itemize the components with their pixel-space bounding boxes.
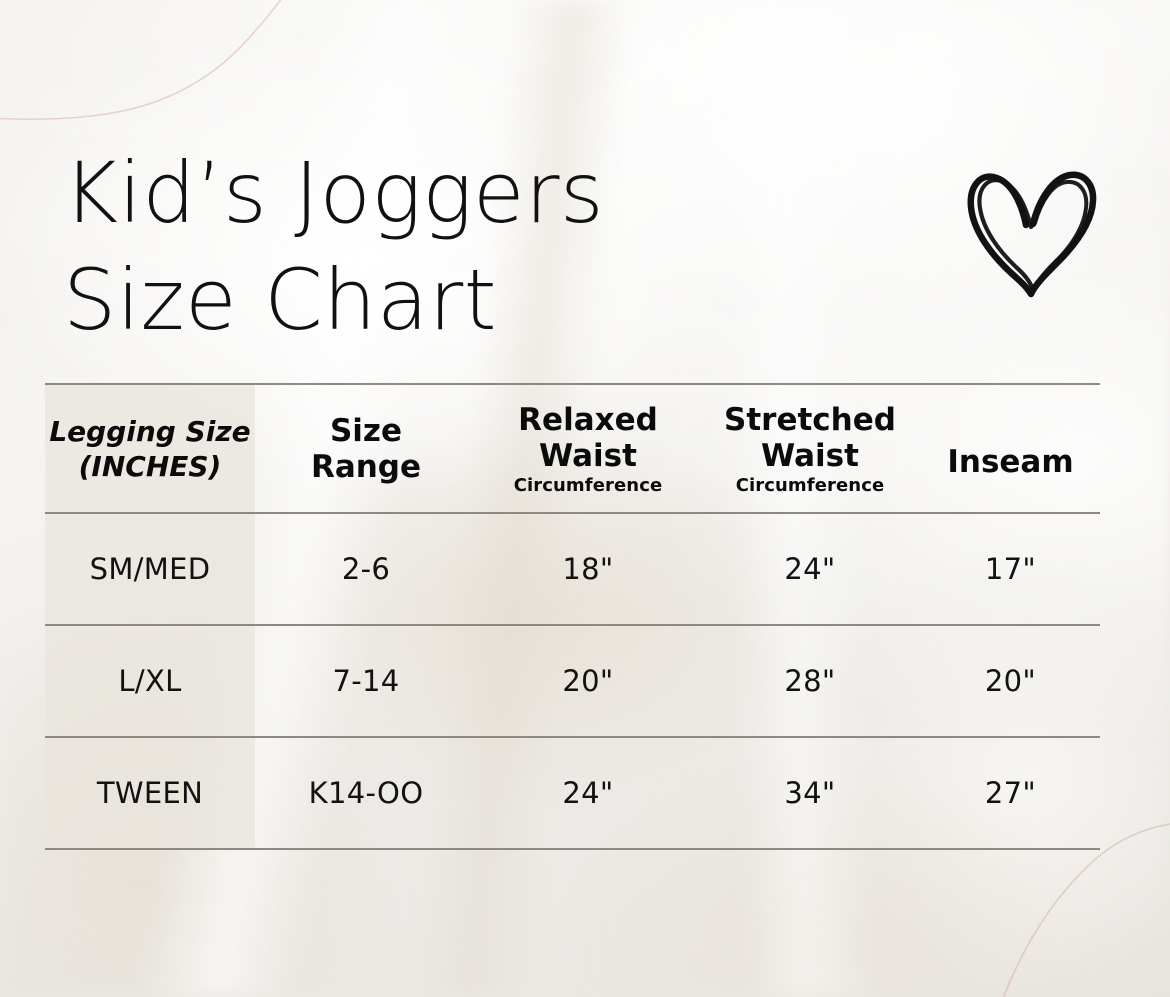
table-header-row: Legging Size (INCHES) Size Range Relaxed… bbox=[45, 384, 1100, 513]
column-header-size-range-second: Range bbox=[311, 449, 421, 485]
cell-legging-size: TWEEN bbox=[45, 737, 255, 849]
column-header-stretched-waist-sub: Circumference bbox=[699, 475, 921, 496]
cell-relaxed-waist: 20" bbox=[477, 625, 699, 737]
cell-size-range: 2-6 bbox=[255, 513, 477, 625]
column-header-relaxed-waist: Relaxed Waist Circumference bbox=[477, 384, 699, 513]
cell-legging-size: L/XL bbox=[45, 625, 255, 737]
cell-size-range: K14-OO bbox=[255, 737, 477, 849]
cell-stretched-waist: 24" bbox=[699, 513, 921, 625]
column-header-relaxed-waist-second: Waist bbox=[539, 438, 637, 474]
column-header-stretched-waist-second: Waist bbox=[761, 438, 859, 474]
cell-size-range: 7-14 bbox=[255, 625, 477, 737]
size-chart-page: Kid’s Joggers Size Chart Legging Size (I… bbox=[0, 0, 1170, 997]
table-body: SM/MED 2-6 18" 24" 17" L/XL 7-14 20" 28"… bbox=[45, 513, 1100, 849]
column-header-relaxed-waist-sub: Circumference bbox=[477, 475, 699, 496]
cell-relaxed-waist: 18" bbox=[477, 513, 699, 625]
cell-inseam: 17" bbox=[921, 513, 1100, 625]
table-row: TWEEN K14-OO 24" 34" 27" bbox=[45, 737, 1100, 849]
column-header-stretched-waist: Stretched Waist Circumference bbox=[699, 384, 921, 513]
page-title-line-2: Size Chart bbox=[63, 247, 783, 354]
table-row: SM/MED 2-6 18" 24" 17" bbox=[45, 513, 1100, 625]
column-header-legging-size-main: Legging Size bbox=[49, 415, 250, 448]
cell-stretched-waist: 34" bbox=[699, 737, 921, 849]
cell-stretched-waist: 28" bbox=[699, 625, 921, 737]
cell-legging-size: SM/MED bbox=[45, 513, 255, 625]
column-header-stretched-waist-main: Stretched bbox=[724, 402, 896, 438]
table-header: Legging Size (INCHES) Size Range Relaxed… bbox=[45, 384, 1100, 513]
size-chart-table: Legging Size (INCHES) Size Range Relaxed… bbox=[45, 383, 1100, 850]
page-title-line-1: Kid’s Joggers bbox=[63, 140, 783, 247]
column-header-size-range-main: Size bbox=[330, 413, 402, 449]
cell-inseam: 27" bbox=[921, 737, 1100, 849]
cell-inseam: 20" bbox=[921, 625, 1100, 737]
column-header-size-range: Size Range bbox=[255, 384, 477, 513]
heart-doodle-icon bbox=[963, 157, 1103, 305]
size-chart-table-wrapper: Legging Size (INCHES) Size Range Relaxed… bbox=[45, 383, 1100, 850]
column-header-legging-size-units: (INCHES) bbox=[79, 450, 222, 483]
table-row: L/XL 7-14 20" 28" 20" bbox=[45, 625, 1100, 737]
cell-relaxed-waist: 24" bbox=[477, 737, 699, 849]
column-header-inseam-main: Inseam bbox=[947, 444, 1073, 480]
column-header-relaxed-waist-main: Relaxed bbox=[518, 402, 658, 438]
column-header-legging-size: Legging Size (INCHES) bbox=[45, 384, 255, 513]
page-title: Kid’s Joggers Size Chart bbox=[63, 140, 783, 354]
column-header-inseam: Inseam bbox=[921, 384, 1100, 513]
